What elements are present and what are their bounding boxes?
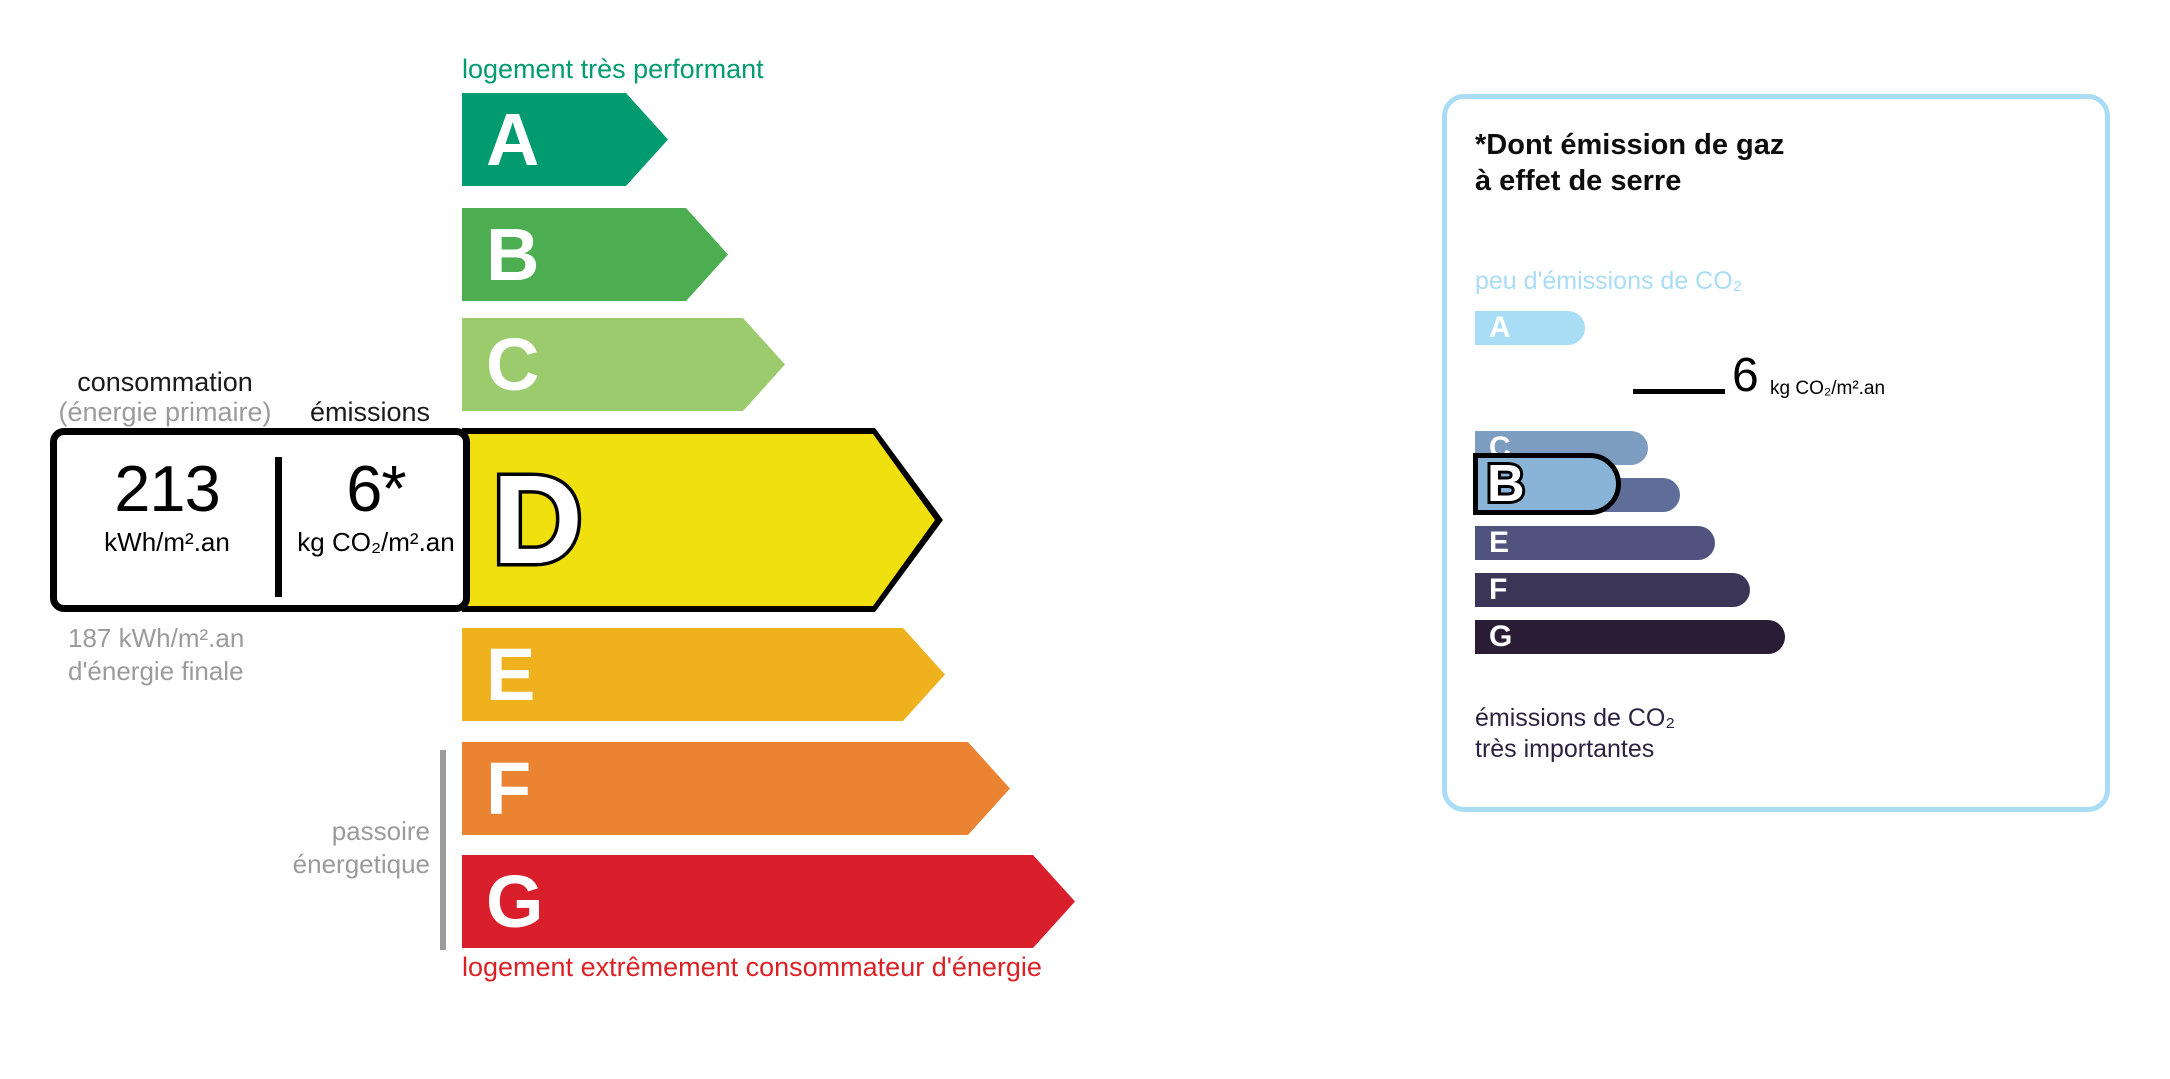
- energy-class-D-arrow: D: [462, 428, 943, 612]
- co2-selected-class-bar: B: [1473, 453, 1621, 515]
- energy-class-B-bar: B: [462, 208, 728, 301]
- co2-bottom-caption: émissions de CO₂ très importantes: [1475, 703, 1675, 766]
- emission-unit: kg CO₂/m².an: [283, 527, 469, 558]
- co2-value: 6: [1732, 352, 1759, 400]
- co2-value-unit: kg CO₂/m².an: [1770, 378, 1885, 400]
- label-emissions: émissions: [280, 397, 460, 428]
- consumption-cell: 213 kWh/m².an: [63, 455, 271, 558]
- energy-class-C-letter: C: [486, 328, 539, 402]
- energy-class-C-bar: C: [462, 318, 785, 411]
- energy-class-A-bar: A: [462, 93, 668, 186]
- energy-performance-diagram: logement très performant ABCEFG 213 kWh/…: [0, 0, 1400, 1079]
- energy-class-G-letter: G: [486, 865, 544, 939]
- consumption-value: 213: [63, 455, 271, 523]
- co2-title-line-1: *Dont émission de gaz: [1475, 127, 1784, 163]
- label-consommation: consommation: [50, 367, 280, 398]
- emission-cell: 6* kg CO₂/m².an: [283, 455, 469, 558]
- passoire-line-2: énergetique: [210, 848, 430, 881]
- energy-class-G-fill: [462, 855, 1075, 948]
- co2-class-A-letter: A: [1489, 313, 1511, 343]
- consumption-unit: kWh/m².an: [63, 527, 271, 558]
- co2-panel-title: *Dont émission de gaz à effet de serre: [1475, 127, 1784, 200]
- energy-class-D-letter: D: [492, 457, 583, 583]
- co2-class-G-bar: G: [1475, 620, 1785, 654]
- co2-emissions-panel: *Dont émission de gaz à effet de serre p…: [1442, 94, 2110, 812]
- co2-class-A-bar: A: [1475, 311, 1585, 345]
- energy-selected-row: 213 kWh/m².an 6* kg CO₂/m².an D: [50, 428, 943, 612]
- co2-class-E-letter: E: [1489, 528, 1509, 558]
- co2-bottom-caption-line-2: très importantes: [1475, 734, 1675, 765]
- co2-top-caption: peu d'émissions de CO₂: [1475, 267, 1742, 296]
- co2-class-F-bar: F: [1475, 573, 1750, 607]
- label-energie-primaire: (énergie primaire): [40, 397, 290, 428]
- passoire-rule-divider: [440, 750, 446, 950]
- energy-class-B-letter: B: [486, 218, 539, 292]
- energy-class-A-letter: A: [486, 103, 539, 177]
- energy-top-caption: logement très performant: [462, 54, 764, 85]
- energy-class-F-bar: F: [462, 742, 1010, 835]
- label-energie-finale: 187 kWh/m².an d'énergie finale: [68, 622, 244, 687]
- energy-bottom-caption: logement extrêmement consommateur d'éner…: [462, 952, 1042, 983]
- energy-class-F-letter: F: [486, 752, 531, 826]
- co2-class-G-letter: G: [1489, 622, 1512, 652]
- energie-finale-line-2: d'énergie finale: [68, 655, 244, 688]
- energy-value-box: 213 kWh/m².an 6* kg CO₂/m².an: [50, 428, 470, 612]
- energy-class-G-bar: G: [462, 855, 1075, 948]
- co2-title-line-2: à effet de serre: [1475, 163, 1784, 199]
- energy-class-F-fill: [462, 742, 1010, 835]
- co2-class-B-letter: B: [1487, 458, 1525, 510]
- co2-bottom-caption-line-1: émissions de CO₂: [1475, 703, 1675, 734]
- label-passoire-energetique: passoire énergetique: [210, 815, 430, 880]
- energy-class-E-letter: E: [486, 638, 535, 712]
- energie-finale-line-1: 187 kWh/m².an: [68, 622, 244, 655]
- emission-value: 6*: [283, 455, 469, 523]
- co2-class-E-bar: E: [1475, 526, 1715, 560]
- passoire-line-1: passoire: [210, 815, 430, 848]
- value-divider: [275, 457, 282, 597]
- energy-class-E-bar: E: [462, 628, 945, 721]
- co2-leader-line: [1633, 389, 1725, 394]
- co2-class-F-letter: F: [1489, 575, 1507, 605]
